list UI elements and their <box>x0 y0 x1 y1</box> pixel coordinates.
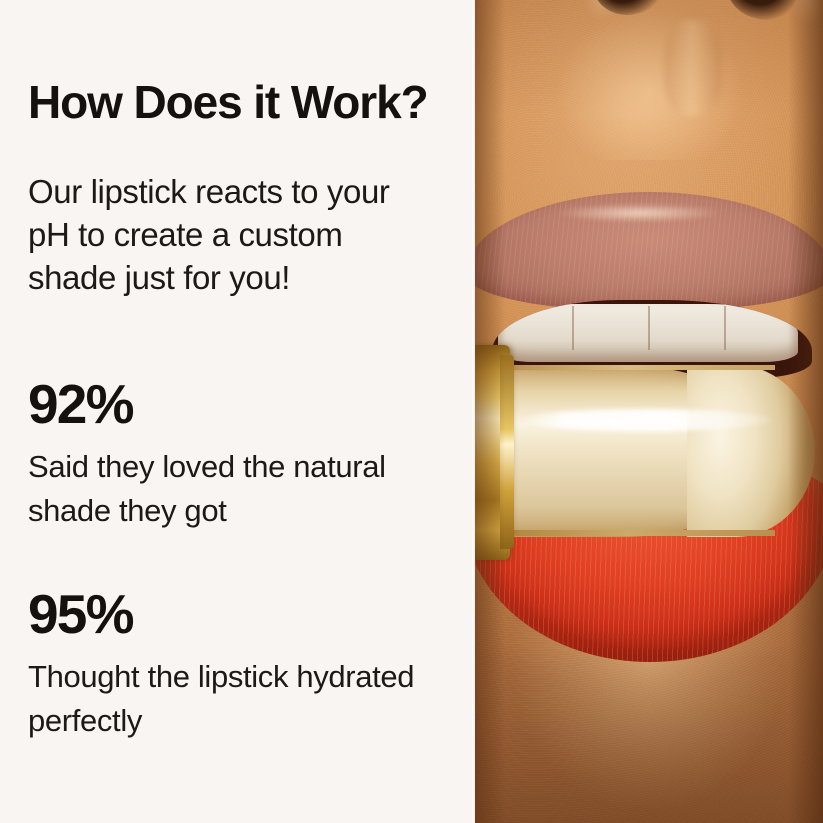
stat-caption-1: Said they loved the natural shade they g… <box>28 445 458 533</box>
stat-value-2: 95% <box>28 582 458 646</box>
intro-paragraph: Our lipstick reacts to your pH to create… <box>28 170 428 299</box>
stat-value-1: 92% <box>28 372 458 436</box>
text-panel: How Does it Work? Our lipstick reacts to… <box>0 0 474 823</box>
product-photo <box>474 0 823 823</box>
stat-caption-2: Thought the lipstick hydrated perfectly <box>28 655 458 743</box>
promo-image: How Does it Work? Our lipstick reacts to… <box>0 0 823 823</box>
stat-block-2: 95% Thought the lipstick hydrated perfec… <box>28 582 458 743</box>
page-title: How Does it Work? <box>28 79 428 127</box>
photo-vignette <box>474 0 823 823</box>
stat-block-1: 92% Said they loved the natural shade th… <box>28 372 458 533</box>
panel-divider <box>472 0 475 823</box>
